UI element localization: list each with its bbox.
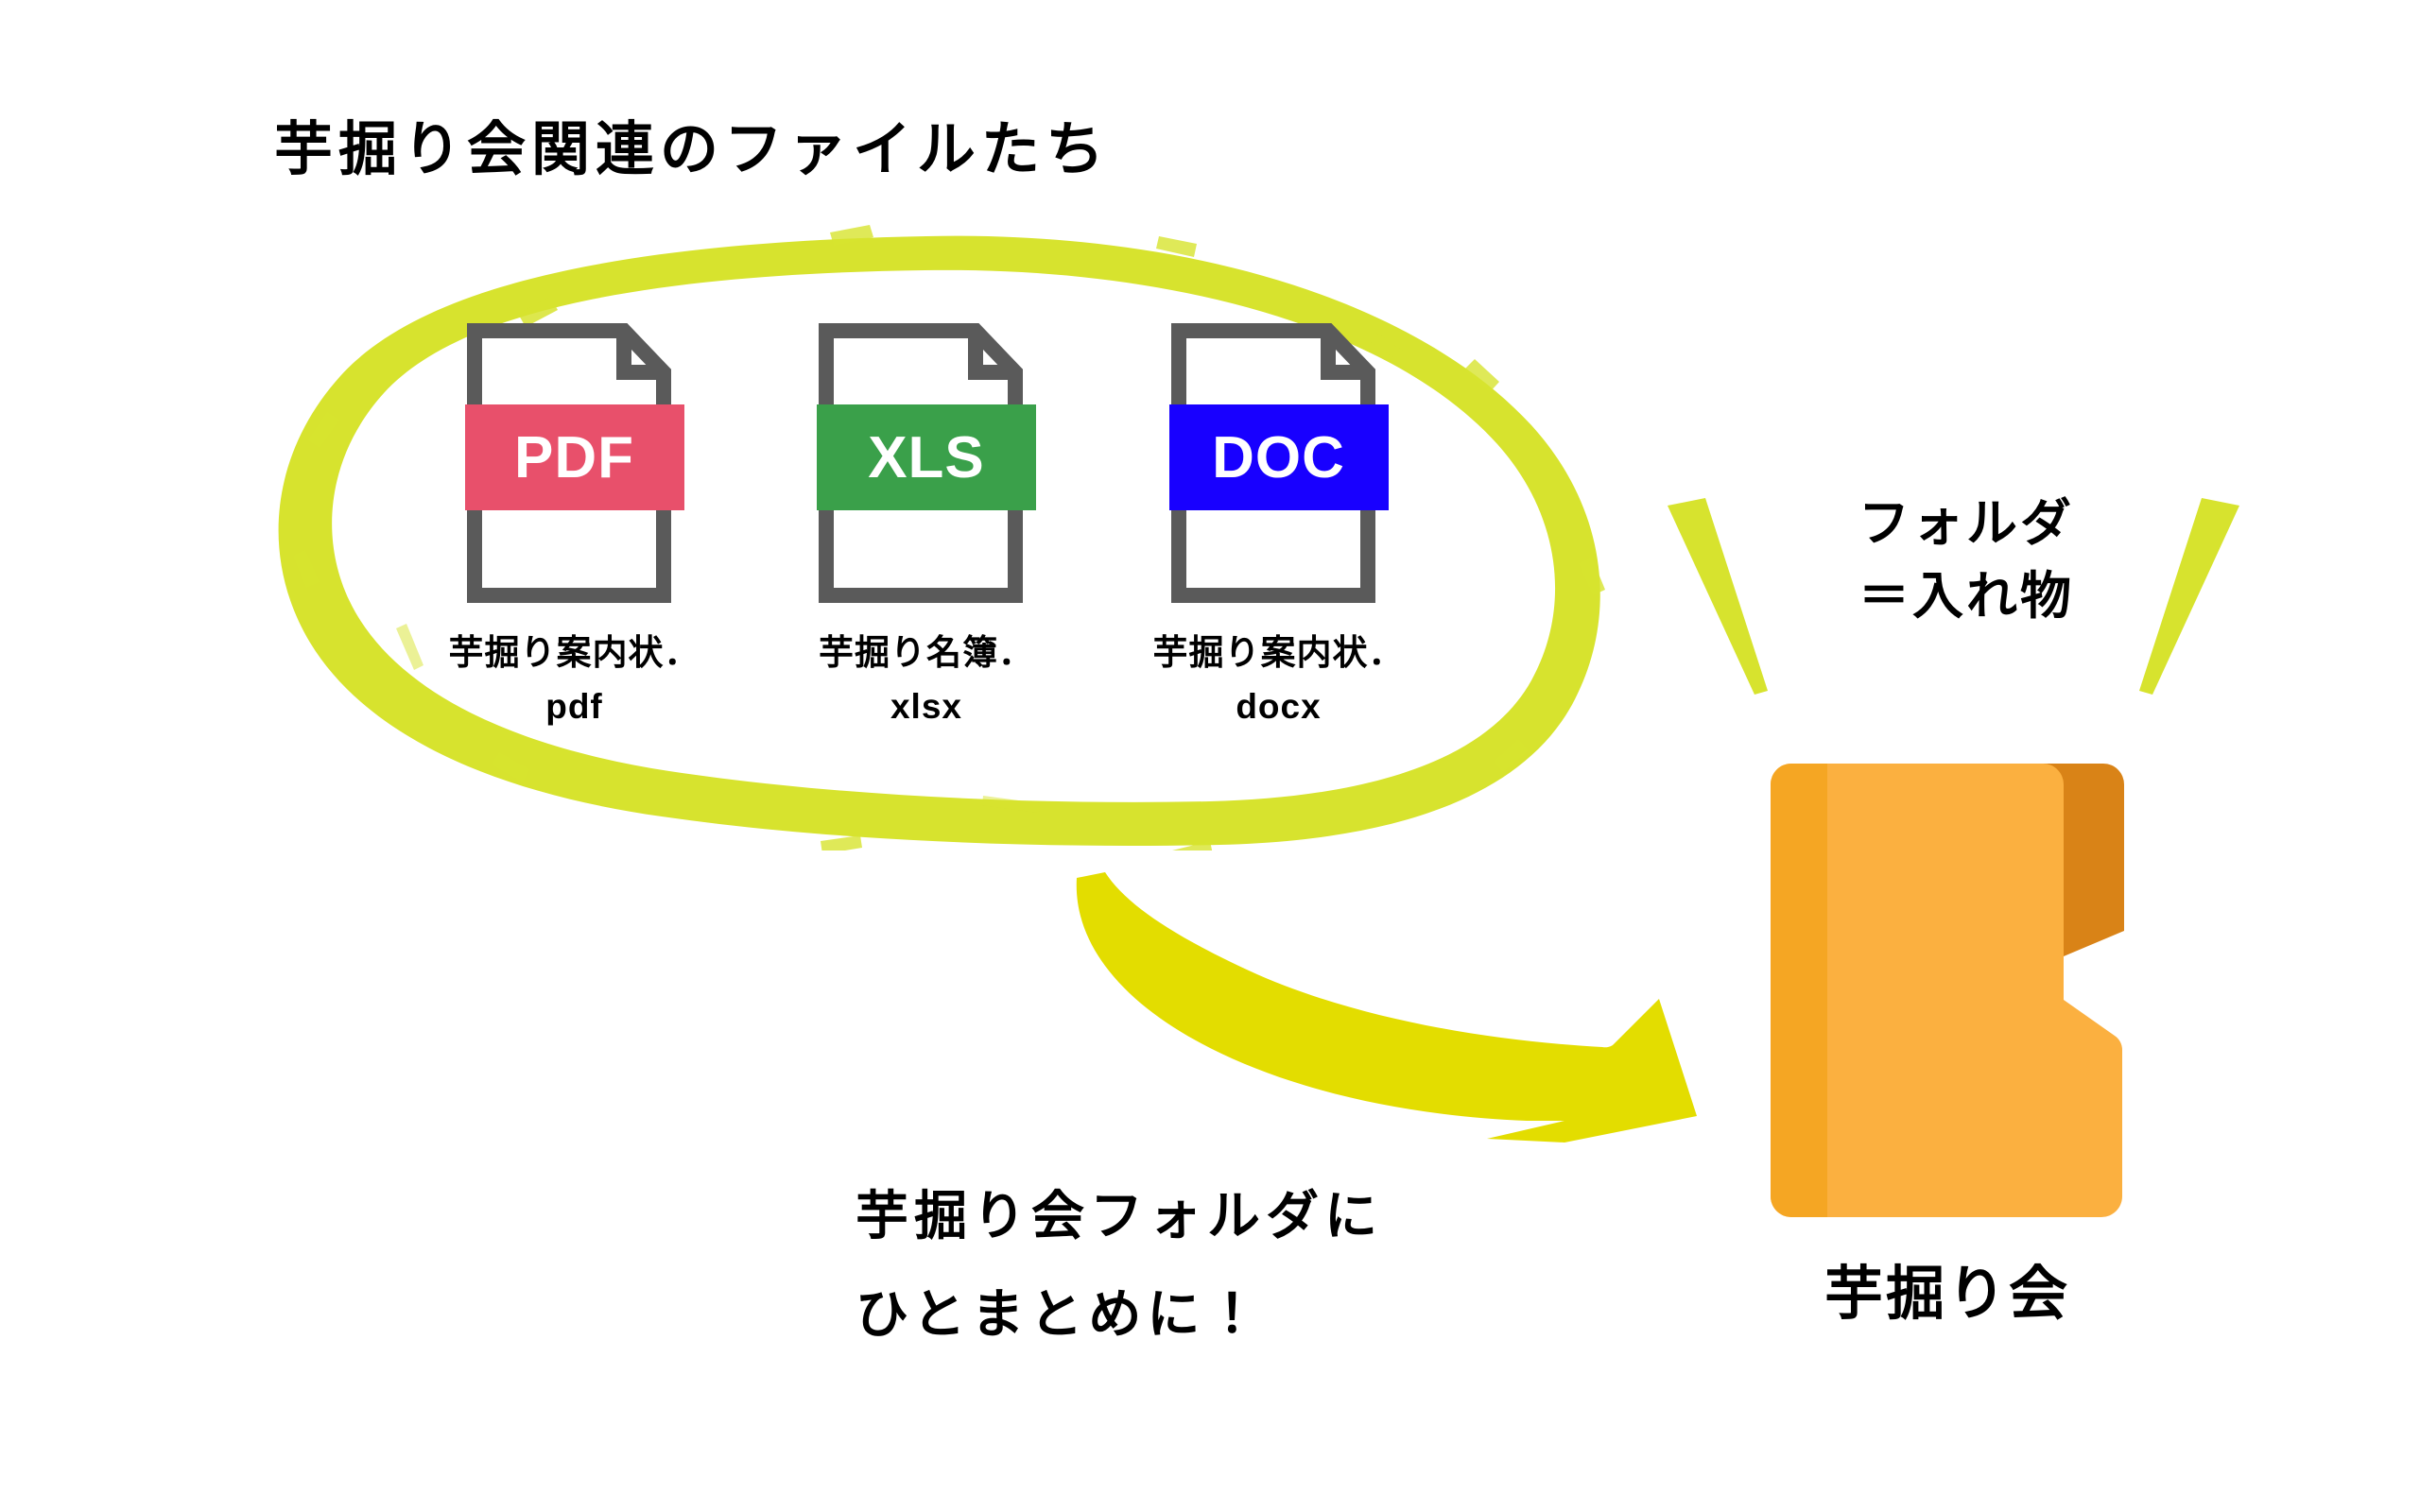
file-name-line2: xlsx — [890, 687, 962, 726]
folder-caption-line2: ＝入れ物 — [1810, 560, 2122, 633]
emphasis-wedge-right-icon — [2132, 494, 2245, 697]
curved-arrow-icon — [1035, 855, 1716, 1158]
diagram-canvas: 芋掘り会関連のファイルたち — [0, 0, 2420, 1512]
folder-icon[interactable] — [1763, 756, 2132, 1238]
file-name-line2: pdf — [545, 687, 603, 726]
page-title: 芋掘り会関連のファイルたち — [274, 118, 1110, 182]
file-item[interactable]: PDF 芋掘り案内状． pdf — [440, 321, 709, 734]
file-list: PDF 芋掘り案内状． pdf XLS 芋掘り名簿． xlsx — [440, 321, 1413, 734]
pdf-file-icon[interactable]: PDF — [465, 321, 684, 605]
folder-name-label: 芋掘り会 — [1692, 1246, 2203, 1331]
file-name-line1: 芋掘り名簿． — [819, 633, 1034, 672]
bottom-caption-line2: ひとまとめに！ — [856, 1265, 1383, 1364]
file-name-label: 芋掘り案内状． docx — [1153, 626, 1405, 734]
file-item[interactable]: DOC 芋掘り案内状． docx — [1144, 321, 1413, 734]
file-name-line2: docx — [1236, 687, 1321, 726]
file-name-label: 芋掘り名簿． xlsx — [819, 626, 1034, 734]
folder-definition-caption: フォルダ ＝入れ物 — [1810, 488, 2122, 632]
folder-caption-line1: フォルダ — [1810, 488, 2122, 560]
file-name-label: 芋掘り案内状． pdf — [449, 626, 700, 734]
file-name-line1: 芋掘り案内状． — [1153, 633, 1405, 672]
file-name-line1: 芋掘り案内状． — [449, 633, 700, 672]
xls-file-icon[interactable]: XLS — [817, 321, 1036, 605]
file-item[interactable]: XLS 芋掘り名簿． xlsx — [792, 321, 1062, 734]
bottom-caption-line1: 芋掘り会フォルダに — [856, 1167, 1383, 1265]
bottom-caption: 芋掘り会フォルダに ひとまとめに！ — [856, 1167, 1383, 1363]
doc-file-icon[interactable]: DOC — [1169, 321, 1389, 605]
emphasis-wedge-left-icon — [1662, 494, 1775, 697]
